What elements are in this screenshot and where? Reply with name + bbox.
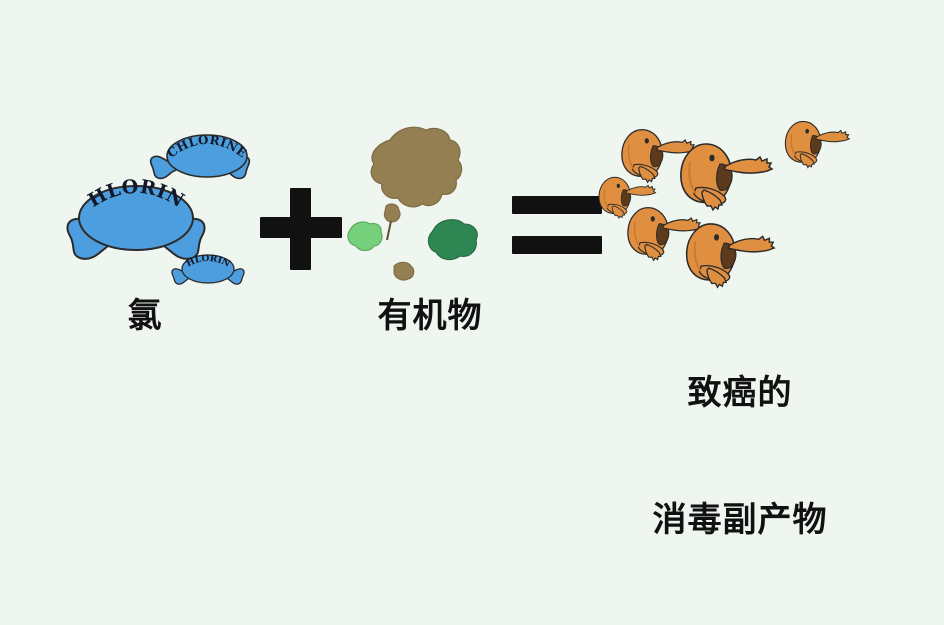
equals-bottom-bar — [512, 236, 602, 254]
dbp-creature-2 — [681, 144, 772, 210]
organic-blobs-svg — [338, 118, 508, 288]
label-chlorine: 氯 — [70, 295, 220, 337]
dbp-creature-6 — [687, 224, 775, 287]
organic-blob-brown-small — [394, 262, 414, 280]
dbp-creatures-group — [604, 118, 854, 298]
equals-operator — [512, 196, 602, 262]
dbp-creature-3 — [785, 121, 849, 167]
chlorine-molecules-svg: CHLORINE CHLORINE CHLORINE — [60, 110, 290, 310]
organic-blob-dark-green — [429, 220, 478, 260]
organic-blob-brown-stem — [384, 204, 400, 222]
organic-blob-brown-large — [371, 127, 461, 207]
label-dbp-line1: 致癌的 — [600, 372, 880, 414]
plus-horizontal-bar — [260, 217, 342, 238]
organic-stem-line — [387, 221, 391, 240]
label-dbp: 致癌的 消毒副产物 — [600, 288, 880, 625]
chlorine-group: CHLORINE CHLORINE CHLORINE — [60, 110, 290, 310]
plus-operator — [258, 186, 344, 272]
chlorine-molecule-medium: CHLORINE — [151, 133, 250, 179]
dbp-creatures-svg — [604, 118, 854, 298]
organic-blob-light-green — [348, 222, 382, 251]
label-dbp-line2: 消毒副产物 — [600, 499, 880, 541]
organic-matter-group — [338, 118, 508, 288]
equals-top-bar — [512, 196, 602, 214]
label-organic-matter: 有机物 — [340, 295, 520, 337]
illustration-canvas: CHLORINE CHLORINE CHLORINE — [0, 0, 944, 525]
